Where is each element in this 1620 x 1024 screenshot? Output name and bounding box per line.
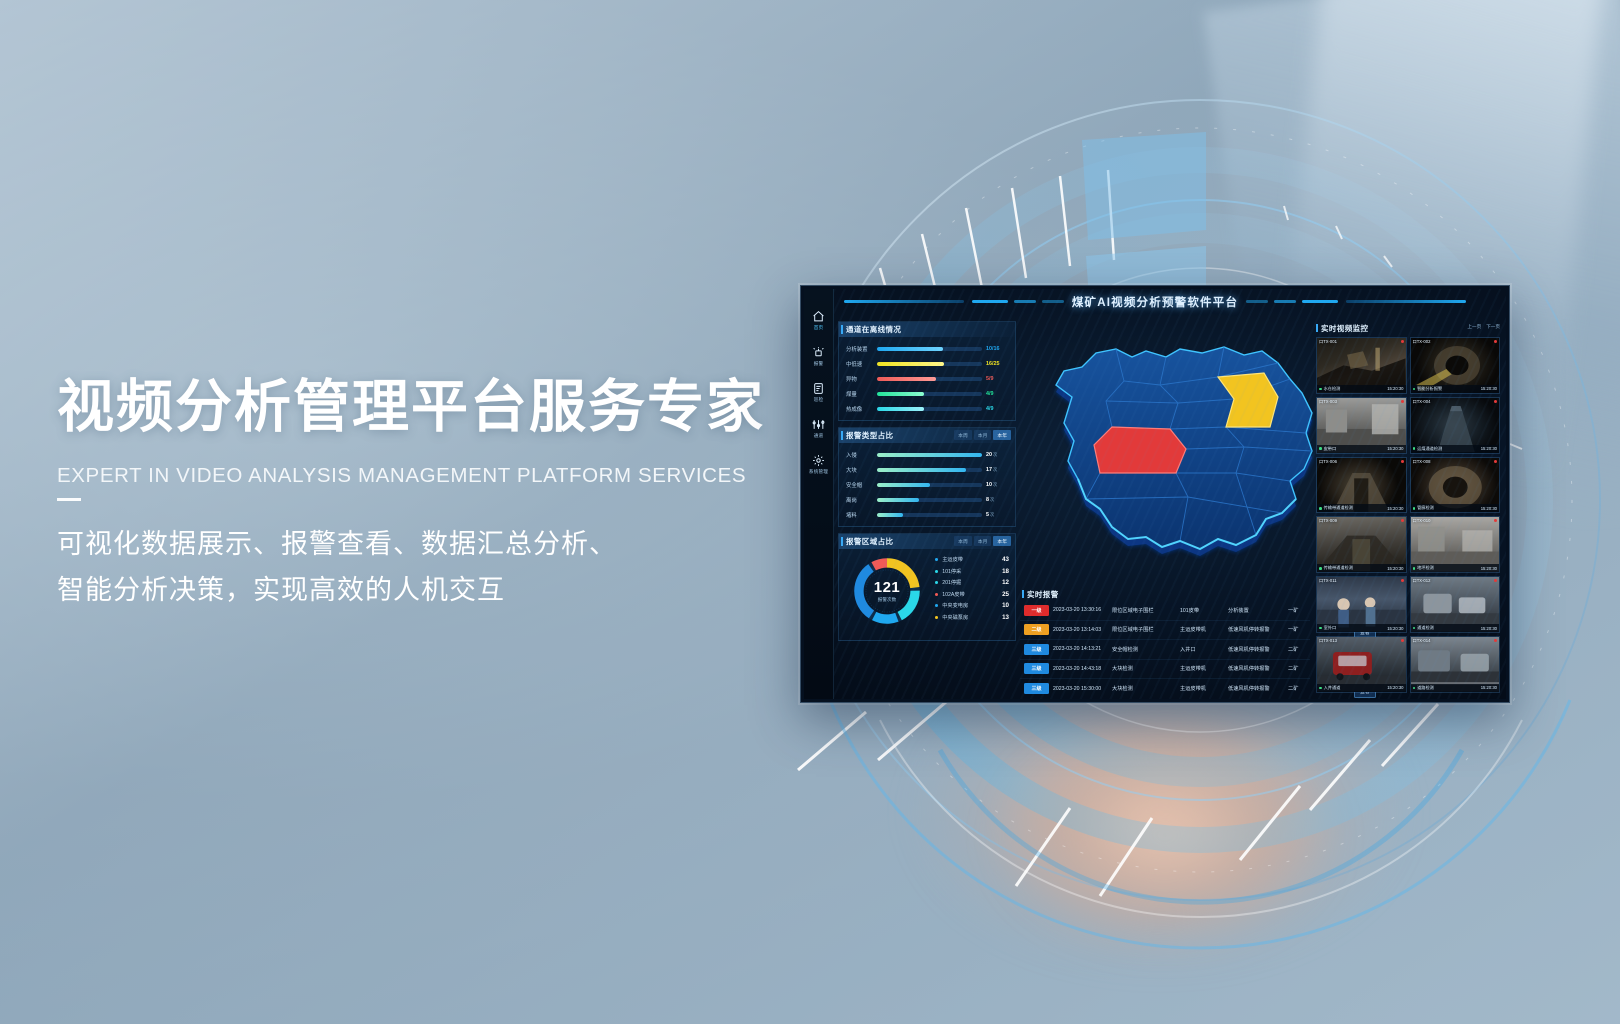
video-tile[interactable]: 口TX-008 管廊检测 15:20:30 [1410, 457, 1501, 514]
alarm-type-value: 17 [986, 467, 992, 473]
video-code: 口TX-004 [1413, 399, 1431, 405]
video-caption: 室外口 15:20:30 [1317, 624, 1406, 632]
video-tile[interactable]: 口TX-002 智能分析报警 15:20:30 [1410, 337, 1501, 394]
video-caption: 水仓检测 15:20:30 [1317, 385, 1406, 393]
video-time: 15:20:30 [1387, 566, 1403, 571]
video-name: 传输带通道检测 [1324, 505, 1388, 511]
alarm-area-panel: 报警区域占比 本周 本月 本年 [838, 533, 1016, 641]
video-caption: 入井通道 15:20:30 [1317, 684, 1406, 692]
alarm-type-row: 堵料 5次 [839, 507, 1015, 522]
alarm-level-badge: 三级 [1024, 644, 1049, 655]
video-caption: 道路检测 15:20:30 [1411, 684, 1500, 692]
realtime-alarm-header: 实时报警 [1020, 587, 1310, 601]
legend-value: 10 [1002, 602, 1009, 609]
channel-row-value: 10/16 [986, 346, 1008, 352]
video-code: 口TX-013 [1319, 638, 1337, 644]
alarm-name: 限位区域电子围栏 [1112, 626, 1180, 633]
channel-row-track [877, 362, 982, 366]
channel-row: 异物 5/9 [839, 371, 1015, 386]
video-panel-title: 实时视频监控 [1321, 323, 1368, 334]
video-name: 地坪检测 [1417, 565, 1481, 571]
alarm-time: 2023-03-20 13:14:03 [1049, 627, 1112, 633]
alarm-area-title: 报警区域占比 [846, 536, 893, 547]
alarm-type-track [877, 468, 982, 472]
video-name: 道路检测 [1417, 685, 1481, 691]
channel-row-track [877, 407, 982, 411]
alarm-type: 低速风机停转报警 [1228, 665, 1288, 672]
channel-row-value: 5/9 [986, 376, 1008, 382]
tab-week[interactable]: 本周 [954, 430, 972, 440]
dashboard-content: 通道在离线情况 分析装置 10/16 中低速 16/25 异物 5/9 [834, 315, 1506, 699]
alarm-type-unit: 次 [990, 512, 994, 517]
table-row[interactable]: 三级 2023-03-20 14:13:21 安全帽检测 入井口 低速风机停转报… [1020, 640, 1310, 660]
sidebar-item-channel[interactable]: 通道 [812, 418, 825, 439]
alarm-type-rows: 入侵 20次 大块 17次 安全帽 10次 离岗 8次 [839, 443, 1015, 522]
video-time: 15:20:30 [1387, 506, 1403, 511]
alarm-time: 2023-03-20 14:13:21 [1049, 646, 1112, 652]
video-name: 管廊检测 [1417, 505, 1481, 511]
video-caption: 皮带口 15:20:30 [1317, 445, 1406, 453]
alarm-name: 大块检测 [1112, 665, 1180, 672]
legend-name: 101停采 [942, 568, 1002, 575]
table-row[interactable]: 三级 2023-03-20 14:43:18 大块检测 主运皮带机 低速风机停转… [1020, 660, 1310, 680]
alarm-type-track [877, 498, 982, 502]
channel-row-track [877, 347, 982, 351]
tab-week[interactable]: 本周 [954, 536, 972, 546]
video-tile[interactable]: 口TX-001 水仓检测 15:20:30 [1316, 337, 1407, 394]
legend-item: 主运皮带 43 [935, 554, 1009, 566]
sidebar-label-inspection: 巡检 [814, 397, 824, 403]
alarm-type: 低速风机停转报警 [1228, 626, 1288, 633]
alarm-type-row: 大块 17次 [839, 462, 1015, 477]
alarm-name: 大块检测 [1112, 685, 1180, 692]
tab-year[interactable]: 本年 [993, 430, 1011, 440]
sidebar-item-system[interactable]: 系统管理 [809, 454, 828, 475]
alarm-type-value: 20 [986, 452, 992, 458]
province-map[interactable] [1020, 323, 1350, 585]
video-name: 通道检测 [1417, 625, 1481, 631]
video-caption: 通道检测 15:20:30 [1411, 624, 1500, 632]
video-code: 口TX-008 [1413, 459, 1431, 465]
channel-row-value: 4/9 [986, 391, 1008, 397]
video-tile[interactable]: 口TX-014 道路检测 15:20:30 [1410, 636, 1501, 693]
channel-status-rows: 分析装置 10/16 中低速 16/25 异物 5/9 煤量 4 [839, 337, 1015, 416]
video-name: 皮带口 [1324, 446, 1388, 452]
alarm-name: 安全帽检测 [1112, 646, 1180, 653]
alarm-type-label: 堵料 [846, 511, 873, 519]
sidebar: 首页 报警 巡检 通道 系统管理 [804, 289, 834, 699]
video-tile[interactable]: 口TX-006 传输带通道检测 15:20:30 [1316, 457, 1407, 514]
sidebar-item-alarm[interactable]: 报警 [812, 346, 825, 367]
alarm-level-badge: 三级 [1024, 683, 1049, 694]
legend-item: 102A皮带 25 [935, 589, 1009, 601]
alarm-type-value: 5 [986, 512, 989, 518]
alarm-type-label: 安全帽 [846, 481, 873, 489]
video-time: 15:20:30 [1481, 626, 1497, 631]
video-caption: 智能分析报警 15:20:30 [1411, 385, 1500, 393]
video-code: 口TX-002 [1413, 339, 1431, 345]
alarm-channel: 主运皮带机 [1180, 685, 1228, 692]
video-time: 15:20:30 [1481, 506, 1497, 511]
realtime-alarm-title: 实时报警 [1027, 589, 1059, 600]
alarm-type-value: 8 [986, 497, 989, 503]
video-caption: 运煤通道检测 15:20:30 [1411, 445, 1500, 453]
video-name: 室外口 [1324, 625, 1388, 631]
video-name: 智能分析报警 [1417, 386, 1481, 392]
video-caption: 地坪检测 15:20:30 [1411, 564, 1500, 572]
gear-icon [812, 454, 825, 467]
video-pagination: 上一页 下一页 [1467, 324, 1500, 330]
alarm-type-row: 离岗 8次 [839, 492, 1015, 507]
alarm-area-legend: 主运皮带 43 101停采 18 201停掘 12 102A皮带 25 [935, 554, 1009, 623]
tab-year[interactable]: 本年 [993, 536, 1011, 546]
hero-description-line-1: 可视化数据展示、报警查看、数据汇总分析、 [57, 521, 817, 567]
channel-icon [812, 418, 825, 431]
video-tile[interactable]: 口TX-009 传输带通道检测 15:20:30 [1316, 516, 1407, 573]
alarm-type: 低速风机停转报警 [1228, 685, 1288, 692]
legend-item: 中央磁泵房 13 [935, 612, 1009, 624]
channel-row-label: 分析装置 [846, 345, 873, 353]
table-row[interactable]: 一级 2023-03-20 13:30:16 限位区域电子围栏 101皮带 分析… [1020, 601, 1310, 621]
alarm-type-tabs: 本周 本月 本年 [954, 430, 1011, 440]
video-time: 15:20:30 [1481, 386, 1497, 391]
channel-row-label: 异物 [846, 375, 873, 383]
dashboard-monitor: 煤矿AI视频分析预警软件平台 首页 报警 巡检 通道 [800, 285, 1510, 703]
video-time: 15:20:30 [1387, 446, 1403, 451]
dashboard-title: 煤矿AI视频分析预警软件平台 [804, 294, 1506, 310]
alarm-channel: 101皮带 [1180, 607, 1228, 614]
sidebar-item-home[interactable]: 首页 [812, 310, 825, 331]
video-time: 15:20:30 [1481, 685, 1497, 690]
legend-name: 201停掘 [942, 579, 1002, 586]
sidebar-label-channel: 通道 [814, 433, 824, 439]
video-grid: 口TX-001 水仓检测 15:20:30 口TX-002 [1316, 337, 1500, 693]
hero-description-line-2: 智能分析决策，实现高效的人机交互 [57, 567, 817, 613]
video-tile[interactable]: 口TX-003 皮带口 15:20:30 [1316, 397, 1407, 454]
alarm-type-unit: 次 [990, 497, 994, 502]
video-tile[interactable]: 口TX-010 地坪检测 15:20:30 [1410, 516, 1501, 573]
alarm-area-tabs: 本周 本月 本年 [954, 536, 1011, 546]
legend-value: 18 [1002, 568, 1009, 575]
alarm-type-track [877, 453, 982, 457]
legend-value: 25 [1002, 591, 1009, 598]
alarm-type: 低速风机停转报警 [1228, 646, 1288, 653]
video-code: 口TX-011 [1319, 578, 1337, 584]
video-caption: 传输带通道检测 15:20:30 [1317, 504, 1406, 512]
channel-row: 分析装置 10/16 [839, 341, 1015, 356]
sidebar-item-inspection[interactable]: 巡检 [812, 382, 825, 403]
video-caption: 传输带通道检测 15:20:30 [1317, 564, 1406, 572]
legend-item: 201停掘 12 [935, 577, 1009, 589]
prev-page-button[interactable]: 上一页 [1467, 324, 1481, 330]
legend-item: 101停采 18 [935, 566, 1009, 578]
channel-status-panel: 通道在离线情况 分析装置 10/16 中低速 16/25 异物 5/9 [838, 321, 1016, 421]
alarm-level-badge: 二级 [1024, 624, 1049, 635]
home-icon [812, 310, 825, 323]
donut-center: 121 报警次数 [845, 552, 929, 630]
video-code: 口TX-012 [1413, 578, 1431, 584]
dashboard-header: 煤矿AI视频分析预警软件平台 [804, 289, 1506, 315]
video-time: 15:20:30 [1387, 626, 1403, 631]
page-title: 视频分析管理平台服务专家 [57, 378, 817, 438]
video-time: 15:20:30 [1481, 566, 1497, 571]
alarm-area-header: 报警区域占比 本周 本月 本年 [839, 534, 1015, 549]
alarm-type-track [877, 483, 982, 487]
alarm-type-label: 大块 [846, 466, 873, 474]
sidebar-label-home: 首页 [814, 325, 824, 331]
alarm-time: 2023-03-20 14:43:18 [1049, 666, 1112, 672]
alarm-type-row: 安全帽 10次 [839, 477, 1015, 492]
alarm-type-title: 报警类型占比 [846, 430, 893, 441]
alarm-type-value: 10 [986, 482, 992, 488]
donut-total: 121 [874, 580, 901, 595]
legend-item: 中央变电房 10 [935, 600, 1009, 612]
legend-value: 12 [1002, 579, 1009, 586]
sidebar-label-system: 系统管理 [809, 469, 828, 475]
table-row[interactable]: 三级 2023-03-20 15:30:00 大块检测 主运皮带机 低速风机停转… [1020, 679, 1310, 699]
alarm-icon [812, 346, 825, 359]
video-name: 传输带通道检测 [1324, 565, 1388, 571]
alarm-type-unit: 次 [993, 467, 997, 472]
alarm-channel: 入井口 [1180, 646, 1228, 653]
alarm-area-donut: 121 报警次数 [845, 552, 929, 630]
table-row[interactable]: 二级 2023-03-20 13:14:03 限位区域电子围栏 主运皮带机 低速… [1020, 621, 1310, 641]
hero-subtitle-en: EXPERT IN VIDEO ANALYSIS MANAGEMENT PLAT… [57, 464, 817, 488]
legend-value: 13 [1002, 614, 1009, 621]
video-code: 口TX-009 [1319, 518, 1337, 524]
video-code: 口TX-014 [1413, 638, 1431, 644]
channel-row-label: 煤量 [846, 390, 873, 398]
video-name: 水仓检测 [1324, 386, 1388, 392]
alarm-channel: 主运皮带机 [1180, 626, 1228, 633]
alarm-type-label: 入侵 [846, 451, 873, 459]
video-code: 口TX-003 [1319, 399, 1337, 405]
alarm-type-unit: 次 [993, 452, 997, 457]
video-name: 运煤通道检测 [1417, 446, 1481, 452]
next-page-button[interactable]: 下一页 [1486, 324, 1500, 330]
video-time: 15:20:30 [1481, 446, 1497, 451]
channel-row: 热成像 4/9 [839, 401, 1015, 416]
video-monitor-panel: 实时视频监控 上一页 下一页 口TX-001 水仓检测 15:20 [1314, 321, 1502, 695]
channel-status-header: 通道在离线情况 [839, 322, 1015, 337]
legend-name: 中央磁泵房 [942, 614, 1002, 621]
channel-row-value: 4/9 [986, 406, 1008, 412]
channel-row-track [877, 392, 982, 396]
alarm-time: 2023-03-20 13:30:16 [1049, 607, 1112, 613]
channel-row: 中低速 16/25 [839, 356, 1015, 371]
tab-month[interactable]: 本月 [974, 536, 992, 546]
alarm-level-badge: 三级 [1024, 663, 1049, 674]
dashboard-screen: 煤矿AI视频分析预警软件平台 首页 报警 巡检 通道 [804, 289, 1506, 699]
alarm-time: 2023-03-20 15:30:00 [1049, 686, 1112, 692]
channel-row: 煤量 4/9 [839, 386, 1015, 401]
alarm-type-row: 入侵 20次 [839, 447, 1015, 462]
alarm-name: 限位区域电子围栏 [1112, 607, 1180, 614]
video-time: 15:20:30 [1387, 386, 1403, 391]
alarm-type-unit: 次 [993, 482, 997, 487]
channel-row-label: 中低速 [846, 360, 873, 368]
legend-name: 主运皮带 [942, 556, 1002, 563]
sidebar-label-alarm: 报警 [814, 361, 824, 367]
alarm-type-track [877, 513, 982, 517]
video-caption: 管廊检测 15:20:30 [1411, 504, 1500, 512]
video-time: 15:20:30 [1387, 685, 1403, 690]
video-tile[interactable]: 口TX-012 通道检测 15:20:30 [1410, 576, 1501, 633]
video-tile[interactable]: 口TX-011 室外口 15:20:30 [1316, 576, 1407, 633]
video-tile[interactable]: 口TX-004 运煤通道检测 15:20:30 [1410, 397, 1501, 454]
video-code: 口TX-001 [1319, 339, 1337, 345]
video-name: 入井通道 [1324, 685, 1388, 691]
divider [57, 498, 81, 501]
hero-copy: 视频分析管理平台服务专家 EXPERT IN VIDEO ANALYSIS MA… [57, 378, 817, 614]
video-panel-header: 实时视频监控 上一页 下一页 [1314, 321, 1502, 335]
legend-value: 43 [1002, 556, 1009, 563]
donut-label: 报警次数 [878, 597, 896, 603]
hero-description: 可视化数据展示、报警查看、数据汇总分析、 智能分析决策，实现高效的人机交互 [57, 521, 817, 614]
legend-name: 102A皮带 [942, 591, 1002, 598]
channel-status-title: 通道在离线情况 [846, 324, 901, 335]
alarm-channel: 主运皮带机 [1180, 665, 1228, 672]
alarm-type: 分析装置 [1228, 607, 1288, 614]
alarm-type-header: 报警类型占比 本周 本月 本年 [839, 428, 1015, 443]
channel-row-value: 16/25 [986, 361, 1008, 367]
video-tile[interactable]: 口TX-013 入井通道 15:20:30 [1316, 636, 1407, 693]
inspection-icon [812, 382, 825, 395]
realtime-alarm-table: 实时报警 一级 2023-03-20 13:30:16 限位区域电子围栏 101… [1020, 587, 1310, 695]
alarm-type-label: 离岗 [846, 496, 873, 504]
video-code: 口TX-010 [1413, 518, 1431, 524]
video-code: 口TX-006 [1319, 459, 1337, 465]
tab-month[interactable]: 本月 [974, 430, 992, 440]
channel-row-label: 热成像 [846, 405, 873, 413]
alarm-level-badge: 一级 [1024, 605, 1049, 616]
channel-row-track [877, 377, 982, 381]
legend-name: 中央变电房 [942, 602, 1002, 609]
alarm-type-panel: 报警类型占比 本周 本月 本年 入侵 20次 大块 17次 [838, 427, 1016, 527]
